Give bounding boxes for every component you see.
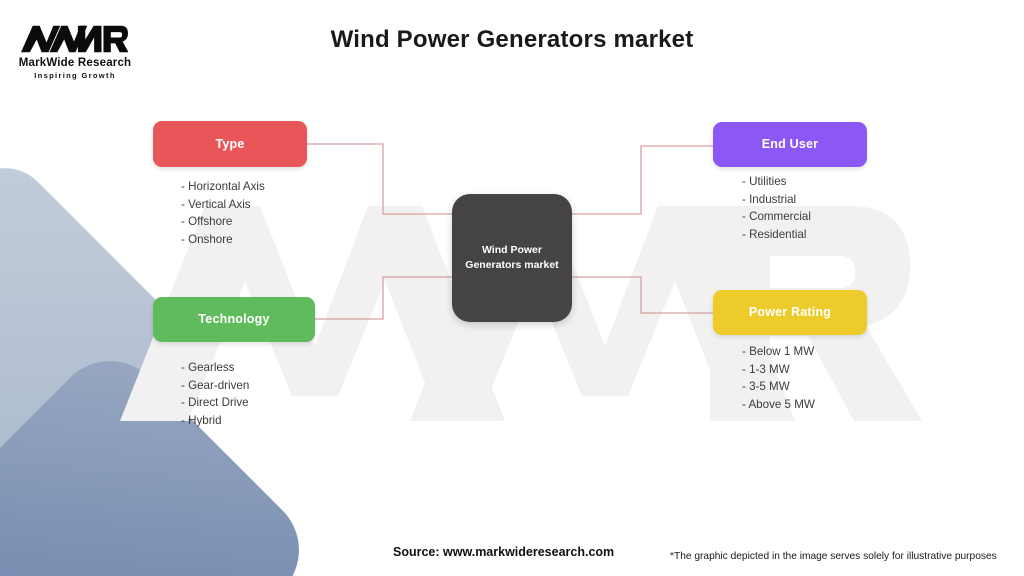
connector-end-user <box>572 146 713 214</box>
node-end-user-label: End User <box>762 136 818 152</box>
list-item: - 1-3 MW <box>742 361 815 379</box>
list-item: - Gearless <box>181 359 249 377</box>
connector-technology <box>315 277 452 319</box>
list-item: - Direct Drive <box>181 394 249 412</box>
node-technology-label: Technology <box>198 311 269 327</box>
list-item: - Onshore <box>181 231 265 249</box>
list-item: - Above 5 MW <box>742 396 815 414</box>
node-technology[interactable]: Technology <box>153 297 315 342</box>
slide-canvas: MarkWide Research Inspiring Growth Wind … <box>0 0 1024 576</box>
list-item: - Residential <box>742 226 811 244</box>
connector-power-rating <box>572 277 713 313</box>
list-item: - 3-5 MW <box>742 378 815 396</box>
list-item: - Below 1 MW <box>742 343 815 361</box>
list-power-rating: - Below 1 MW - 1-3 MW - 3-5 MW - Above 5… <box>742 343 815 413</box>
list-item: - Offshore <box>181 213 265 231</box>
node-type-label: Type <box>215 136 244 152</box>
list-item: - Gear-driven <box>181 377 249 395</box>
source-text: Source: www.markwideresearch.com <box>393 545 614 559</box>
list-type: - Horizontal Axis - Vertical Axis - Offs… <box>181 178 265 248</box>
center-node[interactable]: Wind Power Generators market <box>452 194 572 322</box>
disclaimer-text: *The graphic depicted in the image serve… <box>670 551 997 562</box>
list-item: - Utilities <box>742 173 811 191</box>
center-label-line-2: Generators market <box>465 259 558 271</box>
list-item: - Hybrid <box>181 412 249 430</box>
node-power-rating[interactable]: Power Rating <box>713 290 867 335</box>
center-label-line-1: Wind Power <box>482 244 542 256</box>
list-item: - Industrial <box>742 191 811 209</box>
node-power-rating-label: Power Rating <box>749 304 831 320</box>
connector-type <box>307 144 452 214</box>
list-technology: - Gearless - Gear-driven - Direct Drive … <box>181 359 249 429</box>
list-item: - Horizontal Axis <box>181 178 265 196</box>
node-type[interactable]: Type <box>153 121 307 167</box>
center-node-label: Wind Power Generators market <box>465 243 558 273</box>
list-end-user: - Utilities - Industrial - Commercial - … <box>742 173 811 243</box>
node-end-user[interactable]: End User <box>713 122 867 167</box>
list-item: - Commercial <box>742 208 811 226</box>
list-item: - Vertical Axis <box>181 196 265 214</box>
